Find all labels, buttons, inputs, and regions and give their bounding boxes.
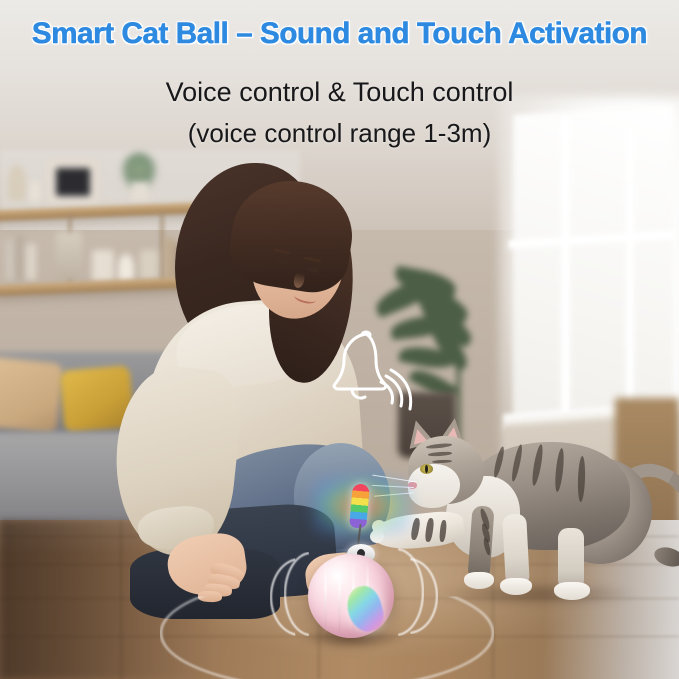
bell-icon-svg (322, 328, 414, 416)
shelf-lantern (56, 232, 82, 280)
cat-paw (500, 578, 532, 595)
sofa-cushion-beige (0, 356, 63, 434)
page-title: Smart Cat Ball – Sound and Touch Activat… (5, 17, 674, 51)
shelf-book-c (26, 244, 36, 280)
shelf-vase-small (30, 182, 40, 202)
ball-ridge (338, 559, 341, 633)
subtitle-line-2: (voice control range 1-3m) (0, 118, 679, 149)
cat-hind-leg (558, 528, 584, 590)
bell-sound-icon (322, 328, 414, 416)
shelf-book-a (6, 240, 15, 280)
cat-paw (554, 582, 590, 600)
headline-text-block: Smart Cat Ball – Sound and Touch Activat… (0, 0, 679, 170)
shelf-vase-left (8, 165, 26, 201)
smart-cat-ball-product (292, 478, 432, 618)
sound-wave-2-path (386, 376, 402, 406)
product-banner: Smart Cat Ball – Sound and Touch Activat… (0, 0, 679, 679)
subtitle-line-1: Voice control & Touch control (0, 77, 679, 108)
cat-eye (420, 464, 433, 474)
cat-paw (464, 572, 494, 589)
shelf-book-b (16, 236, 24, 280)
sound-wave-1-path (381, 382, 393, 403)
bell-body-path (334, 334, 386, 389)
cat-mid-leg (502, 513, 530, 586)
ball-ridge (324, 559, 327, 633)
